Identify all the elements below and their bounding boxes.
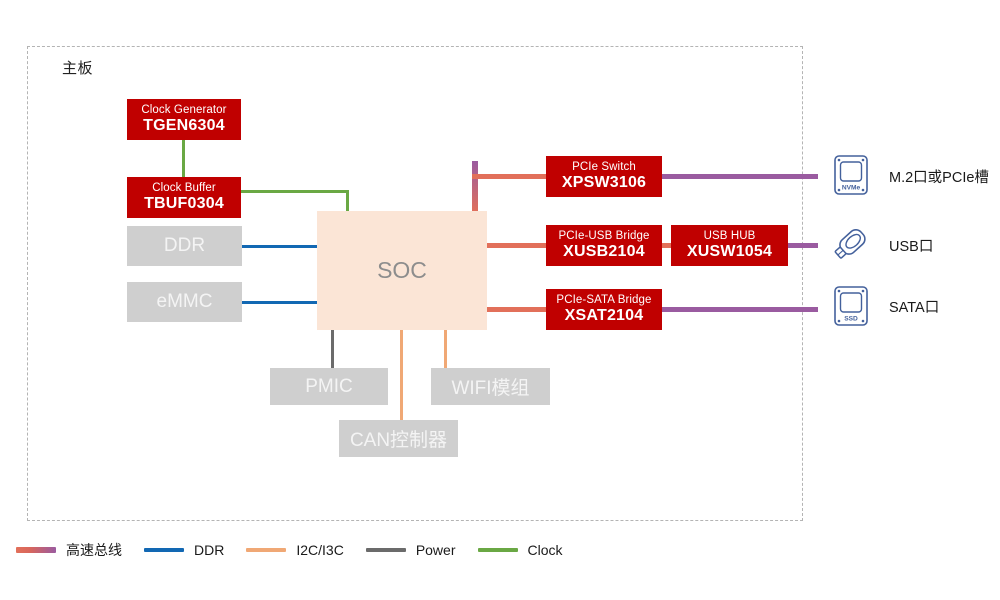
legend-item-ddr: DDR (144, 542, 224, 558)
block-pmic[interactable]: PMIC (270, 368, 388, 405)
block-emmc-label: eMMC (157, 291, 213, 313)
chip-pcie-sata-bridge-partnumber: XSAT2104 (565, 307, 644, 325)
legend-item-power: Power (366, 542, 456, 558)
sata-ssd-icon: SSD (833, 285, 869, 327)
chip-usb-hub-subtitle: USB HUB (704, 230, 756, 243)
line-soc-to-pcie-usb-bridge (486, 243, 548, 248)
line-soc-to-pcie-switch-horizontal (472, 174, 548, 179)
line-soc-to-can (400, 329, 403, 421)
line-clockbuffer-to-soc-horizontal (240, 190, 349, 193)
nvme-ssd-icon: NVMe (833, 154, 869, 196)
chip-pcie-usb-bridge-subtitle: PCIe-USB Bridge (559, 230, 650, 243)
line-soc-to-wifi (444, 329, 447, 369)
block-soc[interactable]: SOC (317, 211, 487, 330)
legend-swatch-clock (478, 548, 518, 552)
legend-swatch-i2c-i3c (246, 548, 286, 552)
block-can-controller[interactable]: CAN控制器 (339, 420, 458, 457)
chip-clock-generator[interactable]: Clock Generator TGEN6304 (127, 99, 241, 140)
svg-text:NVMe: NVMe (842, 185, 861, 192)
legend-item-clock: Clock (478, 542, 563, 558)
chip-usb-hub-partnumber: XUSW1054 (687, 243, 772, 261)
legend-label-high-speed-bus: 高速总线 (66, 540, 122, 560)
line-clockgen-to-clockbuffer (182, 140, 185, 178)
legend-swatch-ddr (144, 548, 184, 552)
usb-flash-drive-icon (831, 222, 873, 264)
block-emmc[interactable]: eMMC (127, 282, 242, 322)
peripheral-label-usb-port: USB口 (889, 235, 933, 256)
line-clockbuffer-to-soc-vertical (346, 190, 349, 213)
line-ddr-to-soc (241, 245, 319, 248)
legend-label-ddr: DDR (194, 542, 224, 558)
block-can-controller-label: CAN控制器 (350, 425, 447, 452)
line-soc-to-pcie-switch-riser (472, 161, 478, 213)
legend-swatch-high-speed-bus (16, 547, 56, 553)
line-soc-to-pmic (331, 329, 334, 369)
legend-swatch-power (366, 548, 406, 552)
chip-pcie-sata-bridge[interactable]: PCIe-SATA Bridge XSAT2104 (546, 289, 662, 330)
legend-label-clock: Clock (528, 542, 563, 558)
motherboard-label: 主板 (62, 57, 93, 78)
peripheral-label-m2-pcie-slot: M.2口或PCIe槽 (889, 166, 989, 187)
legend-label-i2c-i3c: I2C/I3C (296, 542, 343, 558)
chip-clock-generator-subtitle: Clock Generator (141, 104, 226, 117)
line-soc-to-pcie-sata-bridge (486, 307, 548, 312)
block-soc-label: SOC (377, 257, 427, 284)
legend-item-high-speed-bus: 高速总线 (16, 540, 122, 560)
chip-pcie-switch-partnumber: XPSW3106 (562, 174, 646, 192)
chip-clock-buffer-partnumber: TBUF0304 (144, 195, 224, 213)
chip-usb-hub[interactable]: USB HUB XUSW1054 (671, 225, 788, 266)
chip-pcie-switch[interactable]: PCIe Switch XPSW3106 (546, 156, 662, 197)
line-usb-hub-to-usb-port (787, 243, 818, 248)
peripheral-label-sata-port: SATA口 (889, 296, 939, 317)
chip-pcie-sata-bridge-subtitle: PCIe-SATA Bridge (556, 294, 651, 307)
legend-item-i2c-i3c: I2C/I3C (246, 542, 343, 558)
block-pmic-label: PMIC (305, 376, 353, 398)
chip-pcie-switch-subtitle: PCIe Switch (572, 161, 636, 174)
legend-label-power: Power (416, 542, 456, 558)
chip-clock-generator-partnumber: TGEN6304 (143, 117, 225, 135)
legend: 高速总线 DDR I2C/I3C Power Clock (16, 540, 585, 560)
chip-pcie-usb-bridge-partnumber: XUSB2104 (563, 243, 645, 261)
chip-clock-buffer-subtitle: Clock Buffer (152, 182, 216, 195)
line-emmc-to-soc (241, 301, 319, 304)
line-pcie-switch-to-m2 (660, 174, 818, 179)
block-ddr[interactable]: DDR (127, 226, 242, 266)
block-ddr-label: DDR (164, 235, 205, 257)
line-pcie-sata-bridge-to-sata-port (660, 307, 818, 312)
block-diagram-canvas: 主板 Clock Generator TGEN6304 Clock Buffer… (0, 0, 1000, 600)
block-wifi-module[interactable]: WIFI模组 (431, 368, 550, 405)
chip-clock-buffer[interactable]: Clock Buffer TBUF0304 (127, 177, 241, 218)
block-wifi-module-label: WIFI模组 (451, 373, 529, 400)
svg-text:SSD: SSD (844, 316, 858, 323)
chip-pcie-usb-bridge[interactable]: PCIe-USB Bridge XUSB2104 (546, 225, 662, 266)
